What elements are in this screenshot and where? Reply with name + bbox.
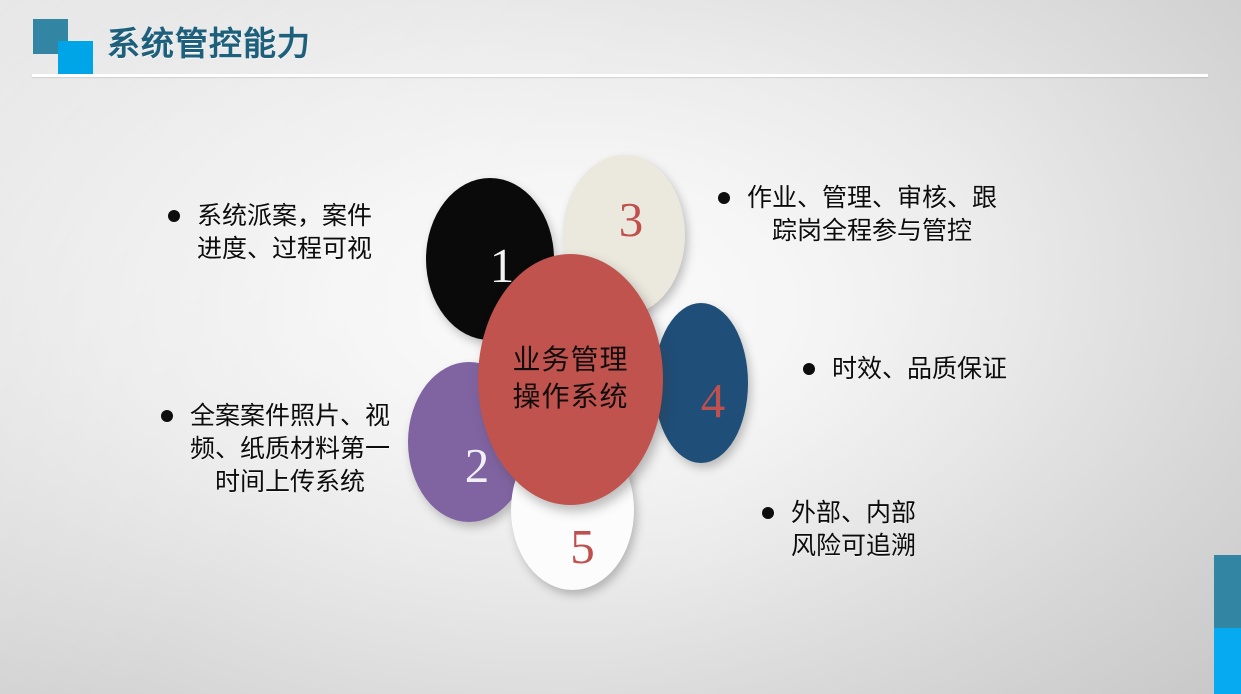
petal-three-number: 3 bbox=[619, 195, 644, 244]
bullet-item-one: 系统派案，案件 进度、过程可视 bbox=[168, 200, 420, 266]
bullet-text-five: 外部、内部 风险可追溯 bbox=[791, 497, 916, 563]
bullet-dot-icon bbox=[803, 363, 815, 375]
petal-four-navy[interactable]: 4 bbox=[654, 303, 748, 463]
bullet-text-three: 作业、管理、审核、跟 踪岗全程参与管控 bbox=[747, 182, 997, 248]
bullet-text-two: 全案案件照片、视 频、纸质材料第一 时间上传系统 bbox=[190, 400, 390, 499]
petal-two-number: 2 bbox=[465, 441, 490, 490]
bullet-dot-icon bbox=[762, 507, 774, 519]
center-ellipse-label: 业务管理 操作系统 bbox=[512, 343, 628, 416]
bullet-item-four: 时效、品质保证 bbox=[803, 353, 1053, 386]
bullet-dot-icon bbox=[161, 410, 173, 422]
bullet-item-five: 外部、内部 风险可追溯 bbox=[762, 497, 992, 563]
bullet-text-four: 时效、品质保证 bbox=[832, 353, 1007, 386]
petal-four-number: 4 bbox=[701, 376, 726, 425]
flower-diagram: 1 3 4 2 5 业务管理 操作系统 bbox=[0, 0, 1241, 694]
center-ellipse[interactable]: 业务管理 操作系统 bbox=[478, 254, 663, 505]
bullet-item-three: 作业、管理、审核、跟 踪岗全程参与管控 bbox=[718, 182, 1048, 248]
petal-five-number: 5 bbox=[570, 522, 595, 571]
bullet-dot-icon bbox=[168, 210, 180, 222]
bullet-item-two: 全案案件照片、视 频、纸质材料第一 时间上传系统 bbox=[161, 400, 431, 499]
bullet-text-one: 系统派案，案件 进度、过程可视 bbox=[197, 200, 372, 266]
bullet-dot-icon bbox=[718, 192, 730, 204]
slide-canvas: 系统管控能力 1 3 4 2 5 业务管理 操作系统 系统派案，案件 进度、过程… bbox=[0, 0, 1241, 694]
